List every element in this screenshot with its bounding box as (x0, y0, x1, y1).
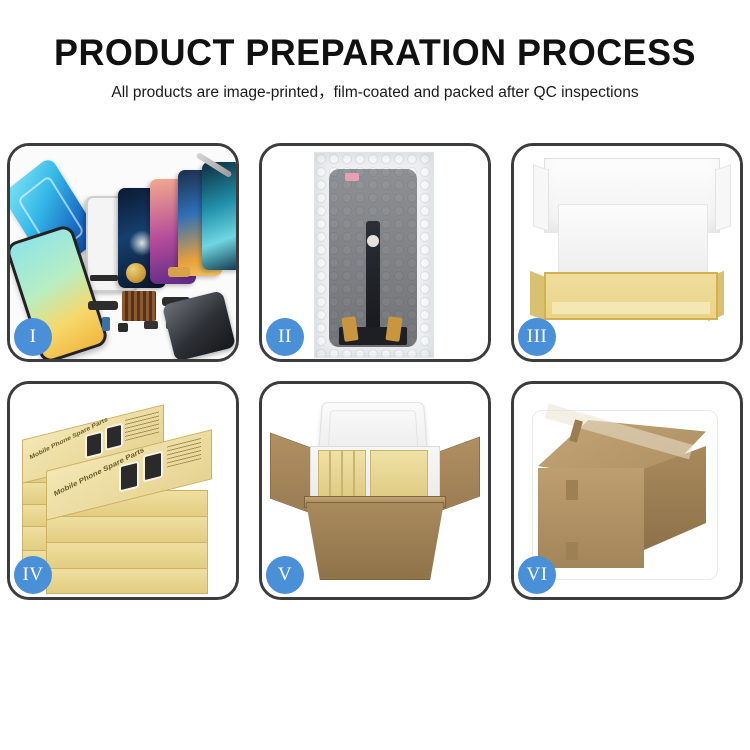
process-step-grid: I II (7, 143, 743, 600)
process-step-panel-1[interactable]: I (7, 143, 239, 362)
retail-box-in-carton-3 (342, 450, 354, 502)
retail-box-checklist-rear (125, 411, 159, 441)
page-title: PRODUCT PREPARATION PROCESS (11, 34, 739, 71)
retail-box-phone-image-rear-1 (85, 431, 103, 459)
small-part-a (102, 317, 110, 331)
carton-body (306, 502, 444, 580)
retail-box-in-carton-4 (354, 450, 366, 502)
step-badge-1: I (14, 318, 52, 356)
step-badge-2: II (266, 318, 304, 356)
page-header: PRODUCT PREPARATION PROCESS All products… (0, 0, 750, 101)
small-part-c (144, 321, 158, 329)
step-badge-4: IV (14, 556, 52, 594)
chip-board-part (122, 291, 156, 321)
process-step-panel-6[interactable]: VI (511, 381, 743, 600)
lcd-assembly (329, 169, 417, 347)
flex-cable-a (88, 301, 118, 310)
process-step-panel-3[interactable]: III (511, 143, 743, 362)
lcd-chip (367, 235, 379, 247)
step-badge-5: V (266, 556, 304, 594)
retail-box-in-carton-2 (330, 450, 342, 502)
phone-screen-teal (202, 162, 236, 270)
page-subtitle: All products are image-printed，film-coat… (0, 85, 750, 101)
process-step-panel-2[interactable]: II (259, 143, 491, 362)
retail-box-front-3 (46, 542, 208, 570)
flex-cable-gold (168, 267, 190, 277)
carton-edge-tab-bottom (566, 542, 578, 560)
retail-box-phone-image-front-2 (143, 451, 163, 483)
retail-box-stack: Mobile Phone Spare Parts Mobile Phone Sp… (20, 400, 232, 590)
coil-part (126, 263, 146, 283)
carton-edge-tab-top (566, 480, 578, 500)
process-step-panel-5[interactable]: V (259, 381, 491, 600)
retail-box-phone-image-rear-2 (105, 423, 123, 451)
lcd-label-tag (345, 173, 359, 181)
step-badge-3: III (518, 318, 556, 356)
speaker-part (90, 275, 118, 281)
retail-box-checklist-front (167, 437, 201, 467)
retail-box-phone-image-front-1 (119, 461, 139, 493)
foam-pad (558, 204, 708, 278)
retail-box-front-4 (46, 516, 208, 544)
retail-box-in-carton-1 (318, 450, 330, 502)
lcd-gold-contact-left (341, 316, 358, 342)
process-step-panel-4[interactable]: Mobile Phone Spare Parts Mobile Phone Sp… (7, 381, 239, 600)
small-part-b (118, 323, 128, 332)
step-badge-6: VI (518, 556, 556, 594)
box-front-wall (544, 272, 718, 320)
carton-front-face (538, 468, 644, 568)
bubble-wrap-sheet (314, 152, 434, 358)
retail-box-front-2 (46, 568, 208, 594)
